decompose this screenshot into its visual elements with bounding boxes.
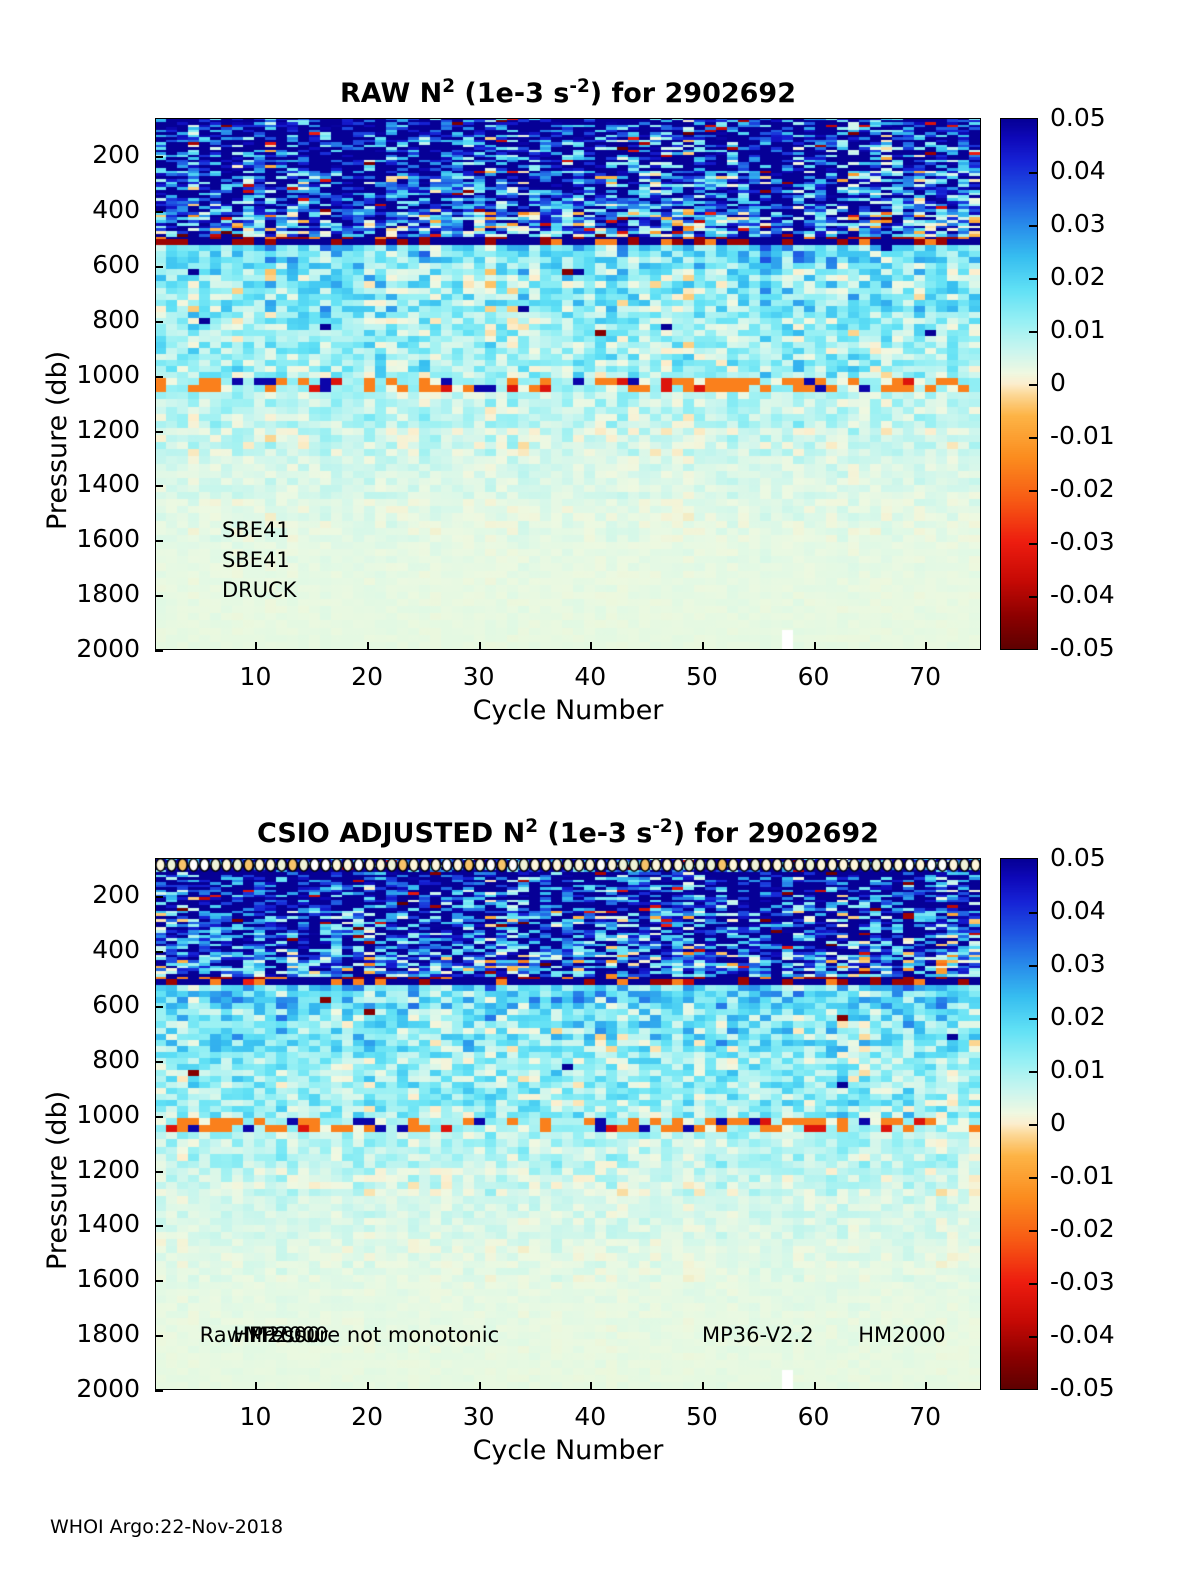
colorbar-tick-label: -0.01 (1050, 1161, 1115, 1190)
x-tick-label: 50 (662, 662, 742, 691)
colorbar-tick-label: -0.01 (1050, 421, 1115, 450)
y-axis-label-raw: Pressure (db) (42, 351, 73, 530)
colorbar-tick-mark (1029, 543, 1037, 545)
y-tick-label: 600 (60, 250, 140, 279)
x-tick-mark (367, 1382, 369, 1390)
y-tick-mark (155, 211, 163, 213)
plot-annotation: MP36-V2.2 (702, 1323, 814, 1347)
x-tick-mark (255, 1382, 257, 1390)
colorbar-tick-label: 0.03 (1050, 209, 1106, 238)
y-tick-label: 600 (60, 990, 140, 1019)
x-tick-label: 40 (550, 1402, 630, 1431)
x-tick-mark (255, 642, 257, 650)
x-tick-mark (367, 642, 369, 650)
x-tick-label: 20 (327, 662, 407, 691)
chart-title-raw: RAW N2 (1e-3 s-2) for 2902692 (155, 78, 981, 109)
colorbar-tick-mark (1029, 278, 1037, 280)
x-tick-mark (479, 1382, 481, 1390)
y-tick-mark (155, 595, 163, 597)
y-tick-mark (155, 1061, 163, 1063)
y-tick-mark (155, 1006, 163, 1008)
colorbar-tick-mark (1029, 437, 1037, 439)
x-tick-mark (925, 642, 927, 650)
y-tick-label: 200 (60, 880, 140, 909)
y-tick-mark (155, 650, 163, 652)
x-tick-mark (702, 1382, 704, 1390)
colorbar-tick-label: 0.02 (1050, 1002, 1106, 1031)
plot-annotation: SBE41 (222, 518, 290, 542)
heatmap-canvas-adjusted (155, 858, 981, 1390)
x-tick-label: 30 (439, 1402, 519, 1431)
x-tick-mark (814, 1382, 816, 1390)
y-tick-mark (155, 1335, 163, 1337)
y-tick-label: 800 (60, 1045, 140, 1074)
x-tick-label: 10 (215, 1402, 295, 1431)
x-tick-mark (590, 1382, 592, 1390)
y-tick-mark (155, 485, 163, 487)
colorbar-tick-label: 0.02 (1050, 262, 1106, 291)
colorbar-tick-label: -0.03 (1050, 1267, 1115, 1296)
plot-annotation: DRUCK (222, 578, 297, 602)
x-tick-mark (702, 642, 704, 650)
y-tick-mark (155, 896, 163, 898)
y-tick-label: 1800 (60, 1319, 140, 1348)
y-tick-mark (155, 431, 163, 433)
y-tick-label: 200 (60, 140, 140, 169)
colorbar-tick-label: 0.05 (1050, 103, 1106, 132)
x-tick-label: 20 (327, 1402, 407, 1431)
plot-annotation: SBE41 (222, 548, 290, 572)
y-tick-mark (155, 1116, 163, 1118)
x-tick-label: 50 (662, 1402, 742, 1431)
x-axis-label-raw: Cycle Number (155, 695, 981, 726)
colorbar-tick-mark (1029, 384, 1037, 386)
x-tick-mark (925, 1382, 927, 1390)
colorbar-tick-label: 0.04 (1050, 896, 1106, 925)
colorbar-tick-mark (1029, 1071, 1037, 1073)
y-tick-label: 2000 (60, 1374, 140, 1403)
colorbar-tick-mark (1029, 225, 1037, 227)
y-tick-mark (155, 1390, 163, 1392)
colorbar-tick-label: 0.03 (1050, 949, 1106, 978)
y-tick-mark (155, 1171, 163, 1173)
colorbar-tick-label: -0.02 (1050, 474, 1115, 503)
x-tick-label: 60 (774, 1402, 854, 1431)
plot-annotation: HM2000 (858, 1323, 945, 1347)
colorbar-tick-label: -0.04 (1050, 1320, 1115, 1349)
colorbar-tick-mark (1029, 331, 1037, 333)
x-tick-label: 40 (550, 662, 630, 691)
colorbar-tick-mark (1029, 490, 1037, 492)
colorbar-tick-mark (1029, 965, 1037, 967)
x-axis-label-adjusted: Cycle Number (155, 1435, 981, 1466)
colorbar-tick-label: 0 (1050, 1108, 1066, 1137)
figure-footer: WHOI Argo:22-Nov-2018 (50, 1516, 283, 1538)
y-tick-label: 400 (60, 935, 140, 964)
x-tick-mark (814, 642, 816, 650)
colorbar-tick-mark (1029, 1283, 1037, 1285)
colorbar-tick-mark (1029, 596, 1037, 598)
colorbar-tick-mark (1029, 172, 1037, 174)
colorbar-tick-label: 0 (1050, 368, 1066, 397)
colorbar-tick-label: -0.02 (1050, 1214, 1115, 1243)
colorbar-tick-label: -0.05 (1050, 633, 1115, 662)
plot-annotation: MP2000 (244, 1323, 328, 1347)
y-tick-mark (155, 1225, 163, 1227)
colorbar-tick-label: 0.05 (1050, 843, 1106, 872)
y-axis-label-adjusted: Pressure (db) (42, 1091, 73, 1270)
x-tick-mark (479, 642, 481, 650)
x-tick-mark (590, 642, 592, 650)
y-tick-mark (155, 266, 163, 268)
colorbar-tick-label: 0.01 (1050, 1055, 1106, 1084)
y-tick-label: 800 (60, 305, 140, 334)
colorbar-tick-mark (1029, 1124, 1037, 1126)
y-tick-label: 400 (60, 195, 140, 224)
colorbar-tick-mark (1029, 912, 1037, 914)
x-tick-label: 60 (774, 662, 854, 691)
chart-title-adjusted: CSIO ADJUSTED N2 (1e-3 s-2) for 2902692 (155, 818, 981, 849)
y-tick-mark (155, 321, 163, 323)
x-tick-label: 70 (885, 1402, 965, 1431)
y-tick-mark (155, 1280, 163, 1282)
colorbar-tick-mark (1029, 1177, 1037, 1179)
y-tick-label: 1800 (60, 579, 140, 608)
colorbar-tick-label: -0.05 (1050, 1373, 1115, 1402)
colorbar-tick-label: -0.03 (1050, 527, 1115, 556)
y-tick-mark (155, 156, 163, 158)
y-tick-mark (155, 951, 163, 953)
y-tick-mark (155, 540, 163, 542)
y-tick-mark (155, 376, 163, 378)
heatmap-axes-adjusted (155, 858, 981, 1390)
x-tick-label: 30 (439, 662, 519, 691)
y-tick-label: 2000 (60, 634, 140, 663)
colorbar-tick-label: 0.04 (1050, 156, 1106, 185)
x-tick-label: 10 (215, 662, 295, 691)
colorbar-tick-label: 0.01 (1050, 315, 1106, 344)
x-tick-label: 70 (885, 662, 965, 691)
colorbar-tick-mark (1029, 1336, 1037, 1338)
colorbar-tick-mark (1029, 1230, 1037, 1232)
colorbar-tick-mark (1029, 1018, 1037, 1020)
colorbar-tick-label: -0.04 (1050, 580, 1115, 609)
